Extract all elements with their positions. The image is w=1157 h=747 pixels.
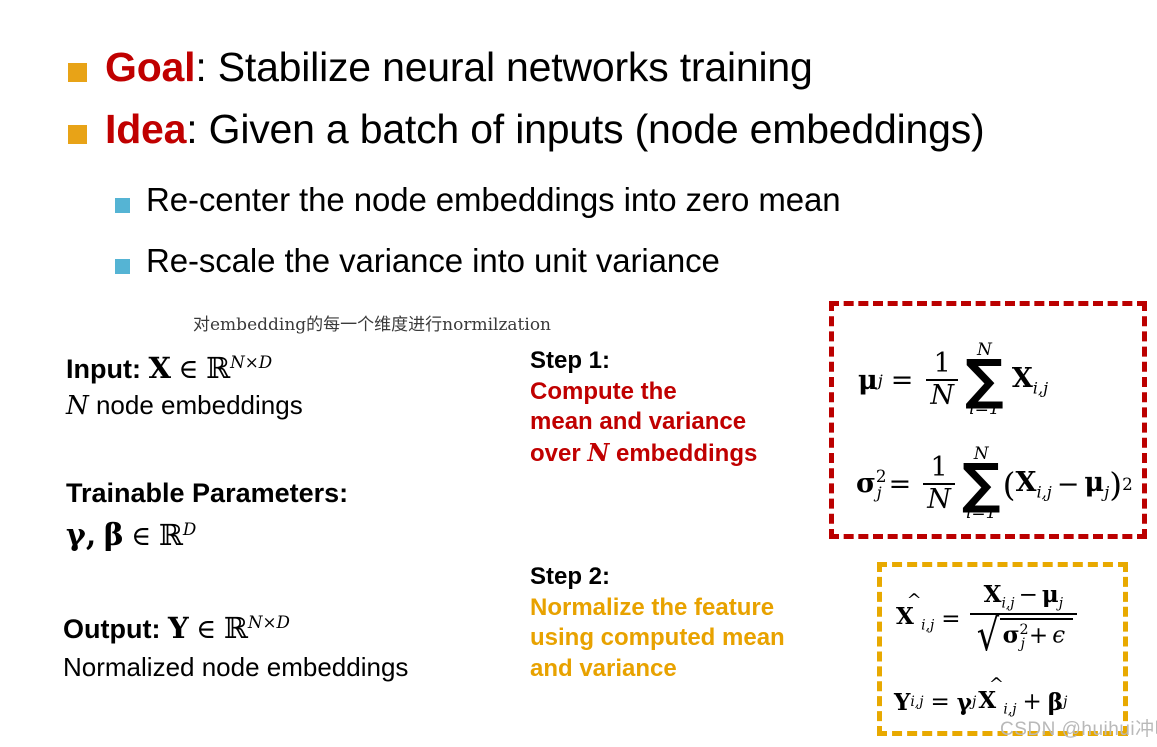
sqrt-body: σ2j+ϵ bbox=[1000, 618, 1074, 654]
sub-bullet-rescale-text: Re-scale the variance into unit variance bbox=[146, 243, 720, 280]
trainable-parameters-spec: γ, β ∈ ℝD bbox=[66, 518, 196, 553]
formula-affine-gamma-sub: j bbox=[972, 694, 976, 710]
beta-symbol: β bbox=[104, 518, 124, 553]
output-element-of-icon: ∈ bbox=[196, 614, 216, 645]
formula-mean-mu: μ bbox=[858, 365, 878, 396]
formula-variance: σ2j = 1 N N ∑ i=1 ( Xi,j − μj )2 bbox=[856, 446, 1133, 522]
formula-mean-numerator: 1 bbox=[930, 350, 955, 379]
bullet-goal-keyword: Goal bbox=[105, 44, 195, 90]
formula-normalize-fraction: Xi,j−μj √ σ2j+ϵ bbox=[970, 583, 1078, 654]
formula-mean-x: X bbox=[1012, 363, 1033, 394]
formula-normalize: X ^i,j = Xi,j−μj √ σ2j+ϵ bbox=[896, 583, 1082, 654]
formula-affine-y: Y bbox=[894, 689, 910, 716]
input-real-set: ℝ bbox=[206, 351, 230, 385]
input-desc-var: N bbox=[66, 391, 89, 421]
bullet-idea: Idea: Given a batch of inputs (node embe… bbox=[68, 107, 984, 153]
params-element-of-icon: ∈ bbox=[131, 521, 151, 552]
formula-affine-y-sub: i,j bbox=[910, 694, 923, 710]
bullet-idea-keyword: Idea bbox=[105, 106, 186, 152]
chinese-annotation: 对embedding的每一个维度进行normilzation bbox=[193, 310, 551, 335]
step-1-line-1: Compute the bbox=[530, 377, 757, 408]
bullet-goal-rest: : Stabilize neural networks training bbox=[195, 44, 812, 90]
formula-mean: μj = 1 N N ∑ i=1 Xi,j bbox=[858, 342, 1048, 418]
formula-mean-summation-icon: N ∑ i=1 bbox=[965, 342, 1004, 418]
input-exponent: N×D bbox=[230, 352, 272, 372]
formula-mean-x-sub: i,j bbox=[1033, 378, 1048, 397]
bullet-goal: Goal: Stabilize neural networks training bbox=[68, 45, 813, 91]
formula-affine-gamma: γ bbox=[957, 689, 972, 716]
formula-variance-x-sub: i,j bbox=[1036, 482, 1051, 501]
sub-bullet-recenter-text: Re-center the node embeddings into zero … bbox=[146, 182, 841, 219]
formula-variance-summation-icon: N ∑ i=1 bbox=[962, 446, 1001, 522]
input-description: N node embeddings bbox=[66, 390, 303, 421]
formula-variance-minus: − bbox=[1057, 469, 1080, 500]
formula-normalize-equals: = bbox=[941, 606, 960, 632]
formula-variance-close-paren: ) bbox=[1109, 465, 1122, 504]
output-exponent: N×D bbox=[248, 612, 290, 632]
bullet-marker-square-icon bbox=[68, 63, 87, 82]
formula-variance-mu: μ bbox=[1084, 467, 1104, 498]
step-1-block: Step 1: Compute the mean and variance ov… bbox=[530, 346, 757, 470]
radical-glyph: √ bbox=[976, 618, 998, 654]
params-comma: , bbox=[86, 518, 96, 553]
num-x: X bbox=[984, 581, 1002, 608]
output-symbol: Y bbox=[168, 611, 189, 645]
formula-normalize-numerator: Xi,j−μj bbox=[980, 583, 1067, 613]
sub-bullet-rescale: Re-scale the variance into unit variance bbox=[115, 243, 720, 280]
step-1-title: Step 1: bbox=[530, 346, 757, 377]
formula-affine-beta-sub: j bbox=[1063, 694, 1067, 710]
step-1-line-2: mean and variance bbox=[530, 407, 757, 438]
output-description: Normalized node embeddings bbox=[63, 652, 408, 683]
gamma-symbol: γ bbox=[66, 518, 86, 553]
bullet-idea-rest: : Given a batch of inputs (node embeddin… bbox=[186, 106, 984, 152]
sub-bullet-recenter: Re-center the node embeddings into zero … bbox=[115, 182, 841, 219]
formula-variance-sigma: σ bbox=[856, 468, 876, 499]
hat-accent-icon: ^ bbox=[896, 590, 932, 611]
formula-normalize-xhat-sub: i,j bbox=[921, 618, 934, 634]
formula-normalize-denominator: √ σ2j+ϵ bbox=[970, 613, 1078, 654]
formula-variance-x: X bbox=[1016, 467, 1037, 498]
sub-bullet-marker-square-icon bbox=[115, 259, 130, 274]
num-mu-sub: j bbox=[1059, 596, 1063, 612]
num-minus: − bbox=[1019, 582, 1038, 608]
formula-variance-outer-sup: 2 bbox=[1122, 474, 1133, 494]
formula-affine-equals: = bbox=[931, 689, 950, 715]
input-desc-rest: node embeddings bbox=[89, 390, 303, 420]
den-plus: + bbox=[1029, 623, 1048, 649]
formula-variance-numerator: 1 bbox=[926, 454, 951, 483]
output-spec: Output: Y ∈ ℝN×D bbox=[63, 611, 290, 645]
den-sigma: σ bbox=[1003, 622, 1020, 649]
formula-variance-sum-lower: i=1 bbox=[966, 505, 997, 522]
formula-variance-open-paren: ( bbox=[1003, 465, 1016, 504]
output-real-set: ℝ bbox=[224, 611, 248, 645]
trainable-parameters-label: Trainable Parameters: bbox=[66, 478, 348, 509]
formula-variance-equals: = bbox=[889, 469, 912, 500]
output-label: Output: bbox=[63, 614, 160, 644]
sub-bullet-marker-square-icon bbox=[115, 198, 130, 213]
input-symbol: X bbox=[148, 351, 171, 385]
bullet-goal-text: Goal: Stabilize neural networks training bbox=[105, 45, 813, 91]
input-spec: Input: X ∈ ℝN×D bbox=[66, 351, 272, 385]
sigma-summation-glyph: ∑ bbox=[962, 463, 1001, 505]
step-2-block: Step 2: Normalize the feature using comp… bbox=[530, 562, 785, 685]
formula-mean-mu-sub: j bbox=[878, 371, 883, 390]
hat-accent-icon: ^ bbox=[978, 674, 1014, 695]
bullet-marker-square-icon bbox=[68, 125, 87, 144]
params-exponent: D bbox=[183, 519, 196, 539]
step-2-formula-box: X ^i,j = Xi,j−μj √ σ2j+ϵ Yi,j = γj X ^i,… bbox=[877, 562, 1128, 736]
sqrt-icon: √ σ2j+ϵ bbox=[974, 618, 1074, 654]
input-label: Input: bbox=[66, 354, 141, 384]
params-real-set: ℝ bbox=[159, 518, 183, 552]
bullet-idea-text: Idea: Given a batch of inputs (node embe… bbox=[105, 107, 984, 153]
csdn-watermark: CSDN @huihui冲啊 bbox=[1000, 714, 1157, 741]
step-2-line-2: using computed mean bbox=[530, 623, 785, 654]
num-mu: μ bbox=[1042, 581, 1059, 608]
formula-variance-sigma-sub: j bbox=[877, 483, 882, 502]
step-2-line-1: Normalize the feature bbox=[530, 593, 785, 624]
den-sigma-sub: j bbox=[1021, 636, 1025, 652]
formula-affine-beta: β bbox=[1048, 689, 1063, 716]
formula-mean-fraction: 1 N bbox=[926, 350, 958, 411]
input-element-of-icon: ∈ bbox=[179, 354, 199, 385]
step-2-title: Step 2: bbox=[530, 562, 785, 593]
formula-variance-fraction: 1 N bbox=[923, 454, 955, 515]
step-1-line-3: over N embeddings bbox=[530, 438, 757, 470]
step-1-formula-box: μj = 1 N N ∑ i=1 Xi,j σ2j = 1 N N ∑ i=1 … bbox=[829, 301, 1147, 539]
num-x-sub: i,j bbox=[1001, 596, 1014, 612]
formula-mean-denominator: N bbox=[926, 379, 958, 410]
formula-mean-equals: = bbox=[891, 365, 914, 396]
step-2-line-3: and variance bbox=[530, 654, 785, 685]
sigma-summation-glyph: ∑ bbox=[965, 359, 1004, 401]
formula-affine-plus: + bbox=[1023, 689, 1042, 715]
formula-variance-denominator: N bbox=[923, 483, 955, 514]
den-epsilon: ϵ bbox=[1052, 623, 1065, 649]
formula-affine: Yi,j = γj X ^i,j + βj bbox=[894, 687, 1067, 718]
formula-mean-sum-lower: i=1 bbox=[969, 401, 1000, 418]
